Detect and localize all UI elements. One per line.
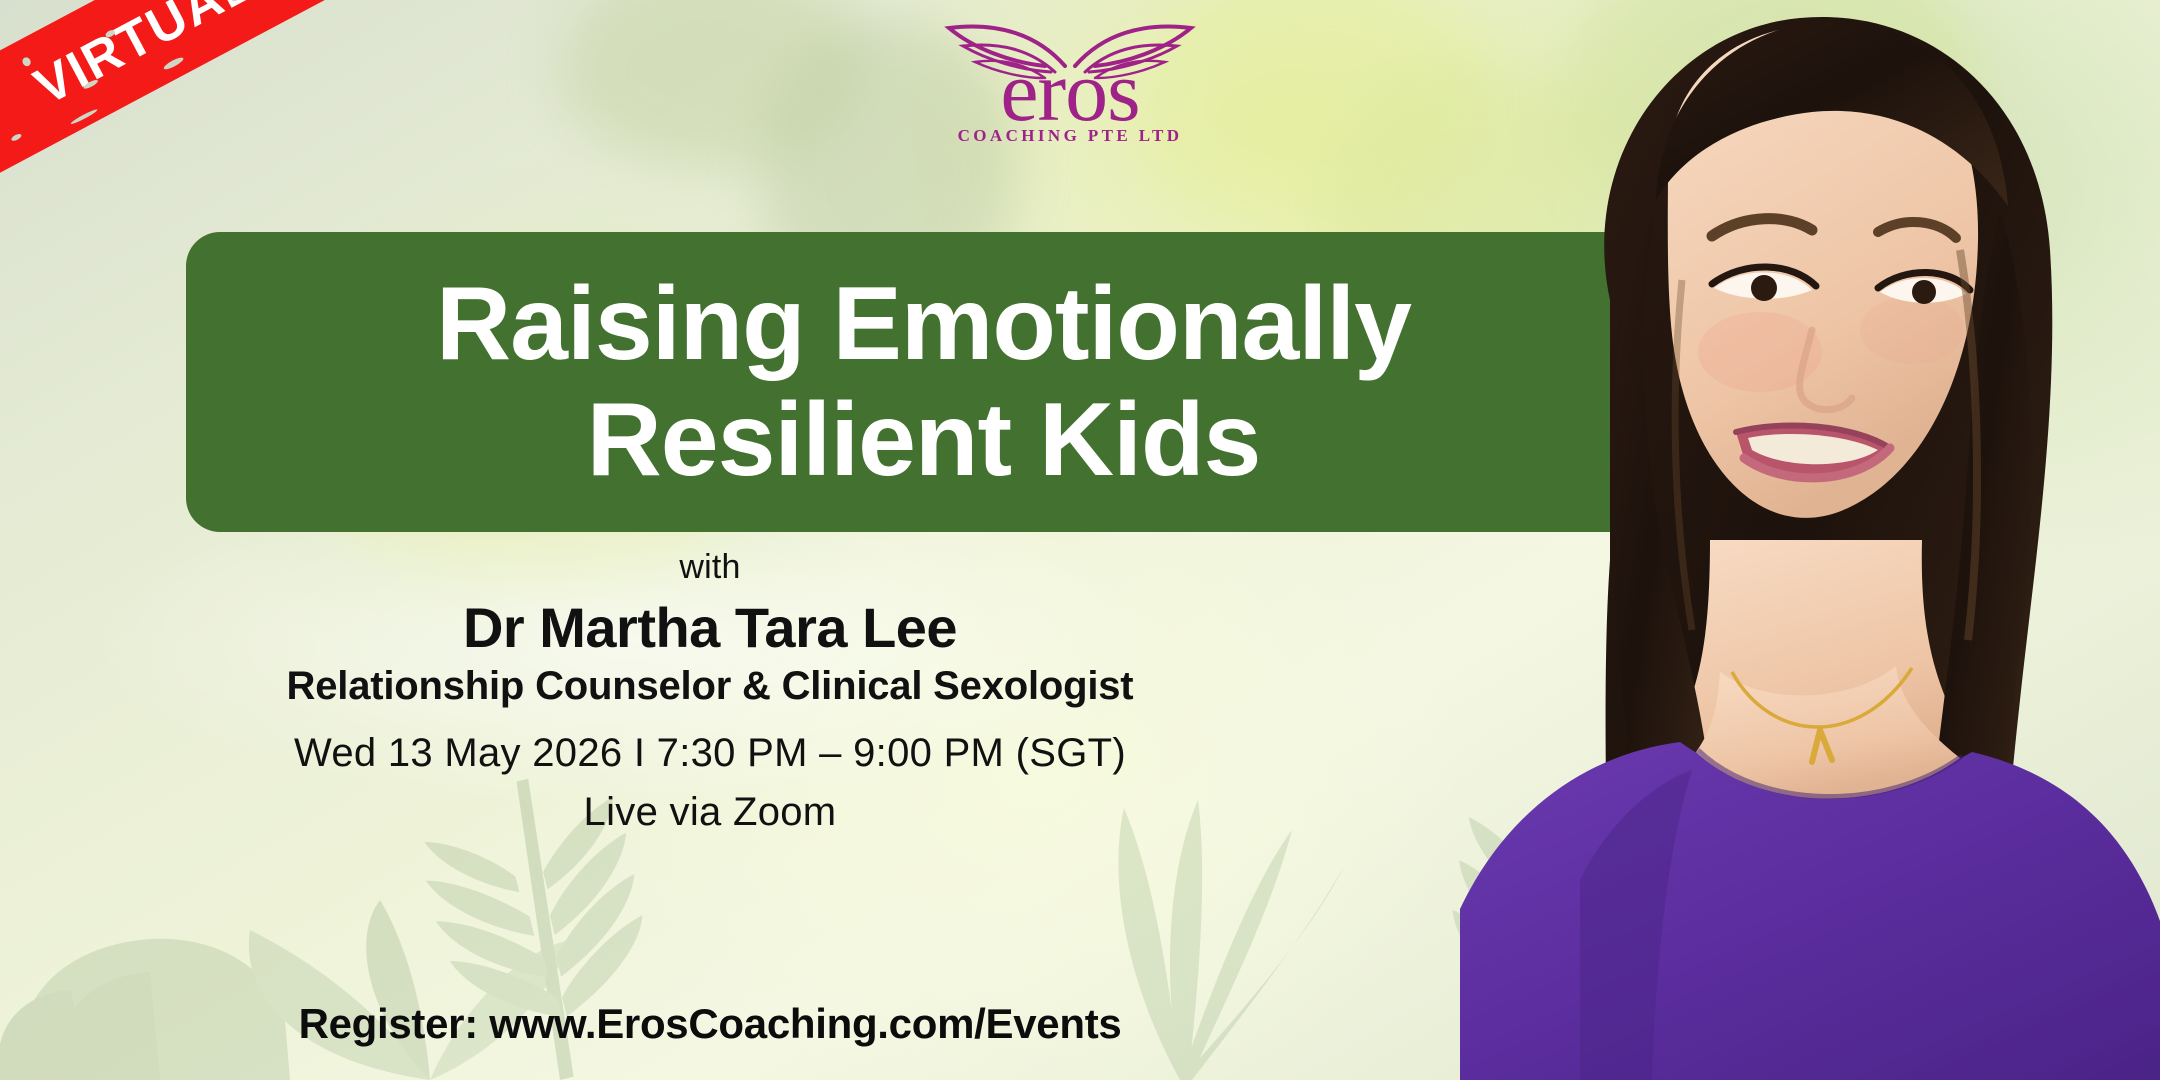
logo-wordmark: eros (905, 48, 1235, 134)
title-line-2: Resilient Kids (587, 388, 1261, 492)
speaker-name: Dr Martha Tara Lee (0, 595, 1420, 660)
speaker-portrait (1460, 0, 2160, 1080)
speaker-credentials: Relationship Counselor & Clinical Sexolo… (0, 664, 1420, 709)
title-banner: Raising Emotionally Resilient Kids (186, 232, 1661, 532)
virtual-stamp-badge: VIRTUAL (0, 0, 392, 190)
event-datetime: Wed 13 May 2026 I 7:30 PM – 9:00 PM (SGT… (0, 731, 1420, 776)
logo-tagline: COACHING PTE LTD (905, 126, 1235, 146)
event-platform: Live via Zoom (0, 790, 1420, 835)
speaker-info-block: with Dr Martha Tara Lee Relationship Cou… (0, 548, 1420, 835)
with-label: with (0, 548, 1420, 587)
eros-coaching-logo: eros COACHING PTE LTD (905, 14, 1235, 150)
register-cta[interactable]: Register: www.ErosCoaching.com/Events (0, 1000, 1420, 1048)
event-banner: VIRTUAL eros COACHING PTE LTD Raising Em… (0, 0, 2160, 1080)
title-line-1: Raising Emotionally (436, 272, 1411, 376)
